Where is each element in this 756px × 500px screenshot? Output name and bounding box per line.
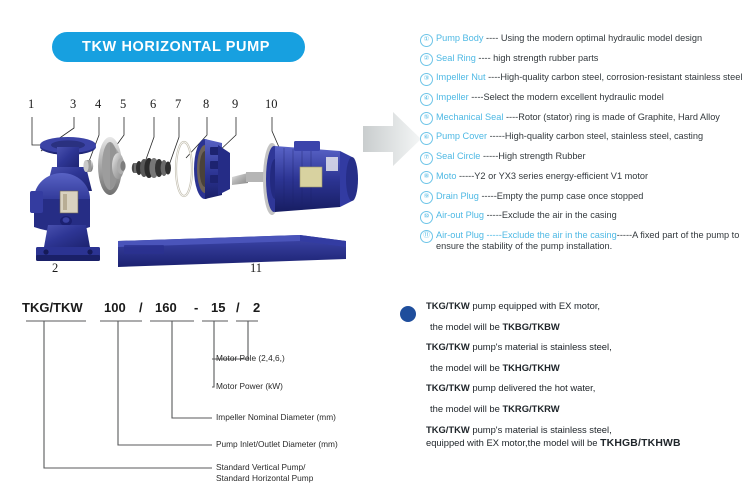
note-prefix: TKG/TKW xyxy=(426,382,470,393)
spec-text: Impeller Nut ----High-quality carbon ste… xyxy=(436,72,756,84)
note-prefix: TKG/TKW xyxy=(426,424,470,435)
mechanical-seal-part xyxy=(132,158,171,178)
model-code-legend: TKG/TKW 100 / 160 - 15 / 2 xyxy=(0,296,400,500)
callout-number: 4 xyxy=(95,97,101,112)
callout-number: 6 xyxy=(150,97,156,112)
spec-desc: -----High-quality carbon steel, stainles… xyxy=(487,131,703,141)
bullet-dot-icon xyxy=(400,306,416,322)
spec-item-11: ⑪ Air-out Plug -----Exclude the air in t… xyxy=(420,230,756,253)
spec-number: ⑪ xyxy=(420,230,433,243)
note-model: TKRG/TKRW xyxy=(502,403,559,414)
callout-number: 10 xyxy=(265,97,278,112)
callout-number: 11 xyxy=(250,261,262,276)
spec-desc: ---- Using the modern optimal hydraulic … xyxy=(484,33,703,43)
spec-name: Impeller Nut xyxy=(436,72,486,82)
callout-number: 5 xyxy=(120,97,126,112)
note-line: TKG/TKW pump delivered the hot water, xyxy=(426,382,756,393)
model-label-pump-type-line1: Standard Vertical Pump/ xyxy=(216,462,305,473)
spec-number: ⑨ xyxy=(420,191,433,204)
model-variant-notes: TKG/TKW pump equipped with EX motor, the… xyxy=(398,300,756,459)
pump-cover-part xyxy=(194,139,230,199)
spec-number: ⑤ xyxy=(420,112,433,125)
spec-item: ④ Impeller ----Select the modern excelle… xyxy=(420,92,756,106)
note-text: the model will be xyxy=(430,362,502,373)
model-label-pump-type-line2: Standard Horizontal Pump xyxy=(216,473,313,484)
pump-body-part xyxy=(30,137,100,261)
spec-text: Pump Body ---- Using the modern optimal … xyxy=(436,33,756,45)
motor-part xyxy=(263,141,358,215)
spec-desc: ----High-quality carbon steel, corrosion… xyxy=(486,72,743,82)
spec-desc-wrap: ensure the stability of the pump install… xyxy=(436,241,756,253)
component-spec-list: ① Pump Body ---- Using the modern optima… xyxy=(420,33,756,259)
spec-number: ② xyxy=(420,53,433,66)
spec-name: Drain Plug xyxy=(436,191,479,201)
model-label-motor-pole: Motor Pole (2,4,6,) xyxy=(216,353,285,364)
spec-desc: -----Y2 or YX3 series energy-efficient V… xyxy=(456,171,648,181)
spec-item: ① Pump Body ---- Using the modern optima… xyxy=(420,33,756,47)
spec-text: Mechanical Seal ----Rotor (stator) ring … xyxy=(436,112,756,124)
note-line: the model will be TKRG/TKRW xyxy=(430,403,756,414)
model-label-impeller-diameter: Impeller Nominal Diameter (mm) xyxy=(216,412,336,423)
spec-name: Pump Body xyxy=(436,33,484,43)
spec-name: Moto xyxy=(436,171,456,181)
spec-number: ⑧ xyxy=(420,171,433,184)
spec-item: ⑩ Air-out Plug -----Exclude the air in t… xyxy=(420,210,756,224)
note-line: the model will be TKHG/TKHW xyxy=(430,362,756,373)
spec-text: Air-out Plug -----Exclude the air in the… xyxy=(436,230,756,253)
callout-number: 7 xyxy=(175,97,181,112)
callout-number: 8 xyxy=(203,97,209,112)
spec-number: ⑩ xyxy=(420,211,433,224)
spec-text: Moto -----Y2 or YX3 series energy-effici… xyxy=(436,171,756,183)
pump-spec-sheet: TKW HORIZONTAL PUMP xyxy=(0,0,756,500)
spec-item: ⑤ Mechanical Seal ----Rotor (stator) rin… xyxy=(420,112,756,126)
spec-item: ⑦ Seal Circle -----High strength Rubber xyxy=(420,151,756,165)
spec-item: ② Seal Ring ---- high strength rubber pa… xyxy=(420,53,756,67)
spec-number: ④ xyxy=(420,93,433,106)
note-line: TKG/TKW pump equipped with EX motor, xyxy=(426,300,756,311)
callout-number: 1 xyxy=(28,97,34,112)
pump-assembly-illustration xyxy=(0,95,400,290)
seal-circle-part xyxy=(176,142,192,196)
note-text: pump equipped with EX motor, xyxy=(470,300,600,311)
note-line-last: equipped with EX motor,the model will be… xyxy=(426,437,756,450)
note-model: TKBG/TKBW xyxy=(502,321,559,332)
spec-number: ⑦ xyxy=(420,152,433,165)
right-arrow-icon xyxy=(361,108,423,170)
spec-desc: ----Select the modern excellent hydrauli… xyxy=(469,92,664,102)
impeller-nut-part xyxy=(83,160,93,172)
note-prefix: TKG/TKW xyxy=(426,341,470,352)
note-text: the model will be xyxy=(430,321,502,332)
spec-number: ③ xyxy=(420,73,433,86)
spec-item: ⑥ Pump Cover -----High-quality carbon st… xyxy=(420,131,756,145)
spec-text: Impeller ----Select the modern excellent… xyxy=(436,92,756,104)
page-title: TKW HORIZONTAL PUMP xyxy=(82,39,270,55)
spec-desc: ----Rotor (stator) ring is made of Graph… xyxy=(503,112,719,122)
spec-item: ⑧ Moto -----Y2 or YX3 series energy-effi… xyxy=(420,171,756,185)
note-text: pump's material is stainless steel, xyxy=(470,341,612,352)
spec-desc: -----Empty the pump case once stopped xyxy=(479,191,643,201)
note-text: equipped with EX motor,the model will be xyxy=(426,437,600,448)
callout-number: 3 xyxy=(70,97,76,112)
spec-text: Air-out Plug -----Exclude the air in the… xyxy=(436,210,756,222)
spec-text: Seal Ring ---- high strength rubber part… xyxy=(436,53,756,65)
title-banner: TKW HORIZONTAL PUMP xyxy=(52,32,305,62)
spec-name: Mechanical Seal xyxy=(436,112,503,122)
spec-item: ③ Impeller Nut ----High-quality carbon s… xyxy=(420,72,756,86)
model-label-motor-power: Motor Power (kW) xyxy=(216,381,283,392)
model-label-inlet-outlet-diameter: Pump Inlet/Outlet Diameter (mm) xyxy=(216,439,338,450)
impeller-part xyxy=(98,137,126,195)
spec-number: ① xyxy=(420,34,433,47)
note-model: TKHGB/TKHWB xyxy=(600,438,681,449)
callout-number: 9 xyxy=(232,97,238,112)
spec-desc: ---- high strength rubber parts xyxy=(476,53,599,63)
spec-text: Seal Circle -----High strength Rubber xyxy=(436,151,756,163)
note-line: TKG/TKW pump's material is stainless ste… xyxy=(426,424,756,435)
spec-text: Pump Cover -----High-quality carbon stee… xyxy=(436,131,756,143)
model-code-bracket-lines xyxy=(0,296,400,500)
spec-name: Air-out Plug -----Exclude the air in the… xyxy=(436,230,617,240)
callout-number: 2 xyxy=(52,261,58,276)
spec-item: ⑨ Drain Plug -----Empty the pump case on… xyxy=(420,191,756,205)
spec-desc: -----High strength Rubber xyxy=(480,151,585,161)
base-plate-part xyxy=(118,235,346,267)
spec-number: ⑥ xyxy=(420,132,433,145)
note-line: TKG/TKW pump's material is stainless ste… xyxy=(426,341,756,352)
note-text: the model will be xyxy=(430,403,502,414)
spec-text: Drain Plug -----Empty the pump case once… xyxy=(436,191,756,203)
spec-name: Pump Cover xyxy=(436,131,487,141)
spec-desc: -----Exclude the air in the casing xyxy=(484,210,617,220)
note-text: pump delivered the hot water, xyxy=(470,382,596,393)
exploded-pump-diagram: 1 3 4 5 6 7 8 9 10 2 11 xyxy=(0,95,400,290)
spec-name: Impeller xyxy=(436,92,469,102)
spec-name: Seal Circle xyxy=(436,151,480,161)
note-model: TKHG/TKHW xyxy=(502,362,559,373)
spec-name: Air-out Plug xyxy=(436,210,484,220)
note-text: pump's material is stainless steel, xyxy=(470,424,612,435)
spec-name: Seal Ring xyxy=(436,53,476,63)
spec-desc: -----A fixed part of the pump to xyxy=(617,230,740,240)
note-line: the model will be TKBG/TKBW xyxy=(430,321,756,332)
note-prefix: TKG/TKW xyxy=(426,300,470,311)
